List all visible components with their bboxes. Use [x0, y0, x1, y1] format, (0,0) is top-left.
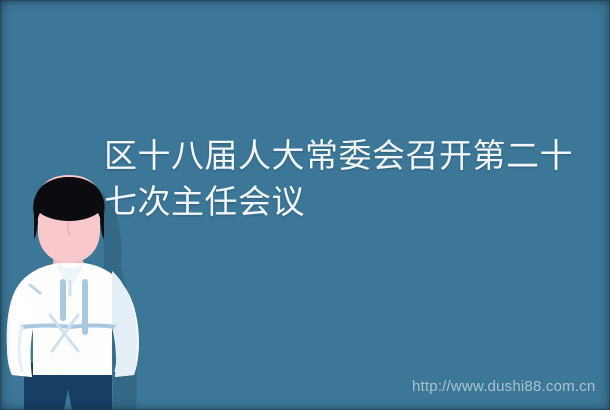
article-cover-image: 区十八届人大常委会召开第二十七次主任会议 http://www.dushi88.…	[0, 0, 610, 410]
watermark-url: http://www.dushi88.com.cn	[412, 378, 595, 396]
headline-text: 区十八届人大常委会召开第二十七次主任会议	[104, 133, 590, 225]
